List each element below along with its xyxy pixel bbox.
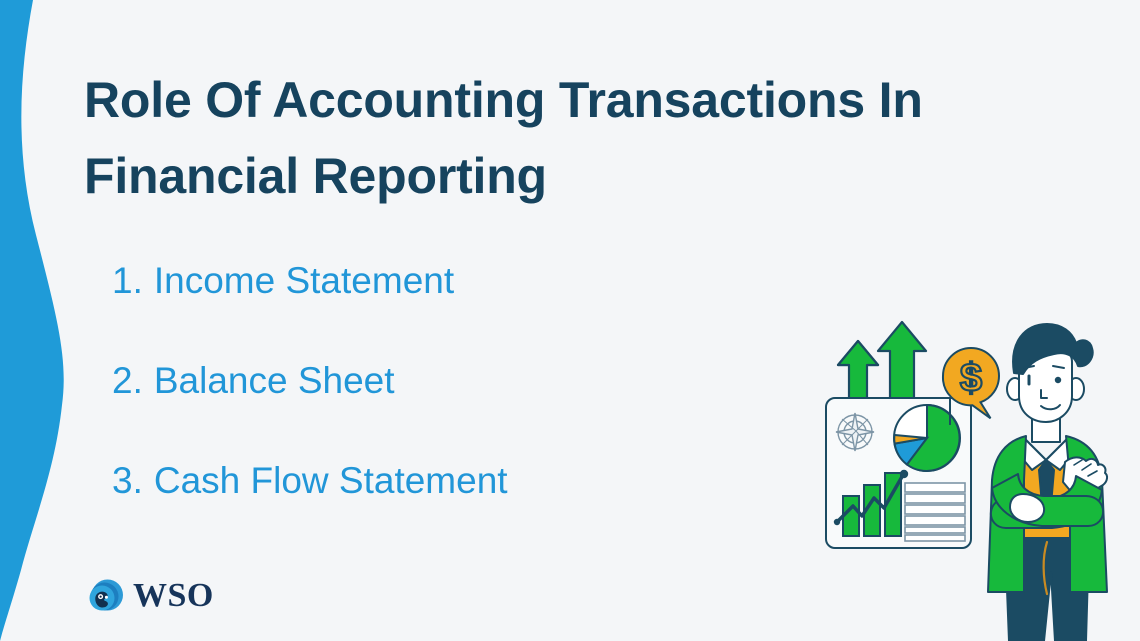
brand-logo: WSO: [86, 577, 214, 615]
ordered-list: 1.Income Statement 2.Balance Sheet 3.Cas…: [112, 262, 752, 562]
wave-shape: [0, 0, 64, 641]
businessman-with-financial-charts-illustration: $: [810, 310, 1140, 641]
businessman-figure: [988, 324, 1107, 641]
list-item-label: Income Statement: [154, 260, 454, 301]
up-arrow-large: [878, 322, 926, 409]
list-item: 1.Income Statement: [112, 262, 752, 299]
document-lines: [905, 483, 965, 541]
list-item-label: Balance Sheet: [154, 360, 395, 401]
list-item-number: 3.: [112, 460, 143, 501]
wso-globe-icon: [86, 577, 124, 615]
list-item: 2.Balance Sheet: [112, 362, 752, 399]
list-item-label: Cash Flow Statement: [154, 460, 508, 501]
svg-text:$: $: [960, 356, 982, 400]
page-title: Role Of Accounting Transactions In Finan…: [84, 62, 984, 214]
logo-wordmark: WSO: [133, 579, 214, 613]
list-item: 3.Cash Flow Statement: [112, 462, 752, 499]
slide-canvas: Role Of Accounting Transactions In Finan…: [0, 0, 1140, 641]
list-item-number: 2.: [112, 360, 143, 401]
list-item-number: 1.: [112, 260, 143, 301]
